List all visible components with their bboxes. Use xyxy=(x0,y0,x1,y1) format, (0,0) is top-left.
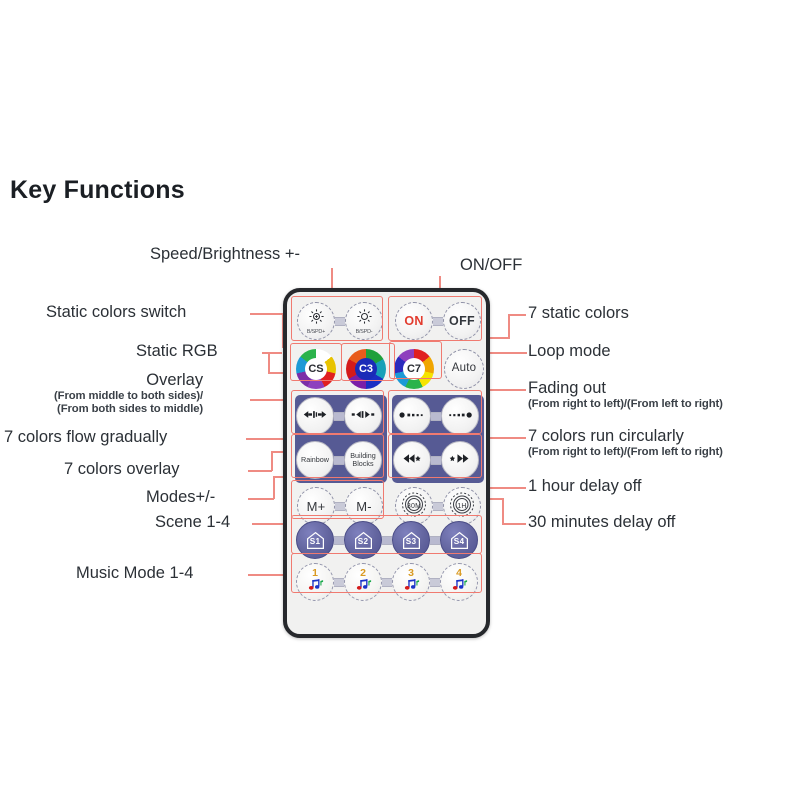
run-left-to-right-icon xyxy=(449,453,471,467)
key-color-c7[interactable]: C7 xyxy=(394,349,434,389)
key-caption: B/SPD+ xyxy=(307,329,325,335)
sun-plus-icon xyxy=(308,308,325,328)
callout-fading-out: Fading out (From right to left)/(From le… xyxy=(528,380,723,411)
key-link xyxy=(334,536,344,545)
key-link xyxy=(431,412,441,421)
connector-line xyxy=(508,314,510,338)
key-run-right-to-left[interactable] xyxy=(393,441,431,479)
callout-fading-out-title: Fading out xyxy=(528,379,606,397)
key-mode-minus[interactable]: M- xyxy=(345,487,383,525)
music-note-icon xyxy=(306,579,324,596)
connector-line xyxy=(508,314,526,316)
remote-control: B/SPD+ B/SPD- ON xyxy=(283,288,490,638)
key-link xyxy=(335,502,345,511)
music-note-icon xyxy=(450,579,468,596)
key-music-1[interactable]: 1 xyxy=(296,563,334,601)
callout-overlay-sub1: (From middle to both sides)/ xyxy=(54,390,203,403)
key-scene-3-label: S3 xyxy=(401,537,422,546)
key-music-3-label: 3 xyxy=(408,568,414,579)
key-overlay-out[interactable] xyxy=(296,397,334,435)
key-fade-right-to-left[interactable] xyxy=(393,397,431,435)
callout-30-minutes-delay-off: 30 minutes delay off xyxy=(528,514,675,532)
callout-overlay-title: Overlay xyxy=(146,371,203,389)
key-power-off[interactable]: OFF xyxy=(443,302,481,340)
key-rainbow-label: Rainbow xyxy=(301,456,329,464)
key-music-4[interactable]: 4 xyxy=(440,563,478,601)
infographic-root: Key Functions Speed/Brightness +- ON/OFF… xyxy=(0,0,800,800)
power-on-label: ON xyxy=(404,314,423,328)
key-music-2-label: 2 xyxy=(360,568,366,579)
key-music-3[interactable]: 3 xyxy=(392,563,430,601)
callout-colors-overlay: 7 colors overlay xyxy=(64,461,180,479)
key-timer-1h-label: 1H xyxy=(457,503,466,510)
key-run-left-to-right[interactable] xyxy=(441,441,479,479)
key-color-cs[interactable]: CS xyxy=(296,349,336,389)
overlay-out-icon xyxy=(302,410,328,422)
key-scene-2[interactable]: S2 xyxy=(344,521,382,559)
callout-7-static-colors: 7 static colors xyxy=(528,305,629,323)
callout-run-circularly-sub: (From right to left)/(From left to right… xyxy=(528,446,723,459)
connector-line xyxy=(248,470,272,472)
connector-line xyxy=(271,451,273,471)
overlay-in-icon xyxy=(350,410,376,422)
key-link xyxy=(382,578,392,587)
key-link xyxy=(334,578,344,587)
key-color-c7-label: C7 xyxy=(403,358,425,380)
run-right-to-left-icon xyxy=(401,453,423,467)
callout-static-rgb: Static RGB xyxy=(136,343,218,361)
key-mode-plus[interactable]: M+ xyxy=(297,487,335,525)
connector-line xyxy=(268,352,270,373)
key-link xyxy=(433,317,443,326)
key-color-c3[interactable]: C3 xyxy=(346,349,386,389)
key-link xyxy=(334,456,344,465)
callout-fading-out-sub: (From right to left)/(From left to right… xyxy=(528,398,723,411)
callout-overlay-sub2: (From both sides to middle) xyxy=(54,403,203,416)
key-link xyxy=(382,536,392,545)
key-power-on[interactable]: ON xyxy=(395,302,433,340)
key-auto[interactable]: Auto xyxy=(444,349,484,389)
callout-modes-plus-minus: Modes+/- xyxy=(146,489,215,507)
callout-scene-1-4: Scene 1-4 xyxy=(155,514,230,532)
key-link xyxy=(431,456,441,465)
callout-speed-brightness: Speed/Brightness +- xyxy=(150,246,300,264)
key-scene-4[interactable]: S4 xyxy=(440,521,478,559)
fade-right-to-left-icon xyxy=(399,411,425,422)
connector-line xyxy=(273,476,275,499)
key-color-cs-label: CS xyxy=(305,358,327,380)
power-off-label: OFF xyxy=(449,314,475,328)
callout-static-colors-switch: Static colors switch xyxy=(46,304,186,322)
home-icon: S3 xyxy=(401,530,422,551)
key-scene-1-label: S1 xyxy=(305,537,326,546)
callout-music-mode-1-4: Music Mode 1-4 xyxy=(76,565,193,583)
key-scene-3[interactable]: S3 xyxy=(392,521,430,559)
music-note-icon xyxy=(402,579,420,596)
key-link xyxy=(335,317,345,326)
key-mode-plus-label: M+ xyxy=(307,500,326,513)
key-link xyxy=(433,502,443,511)
connector-line xyxy=(248,498,274,500)
connector-line xyxy=(484,487,526,489)
key-timer-30m-label: 30M xyxy=(407,503,421,510)
key-building-blocks[interactable]: Building Blocks xyxy=(344,441,382,479)
key-brightness-speed-up[interactable]: B/SPD+ xyxy=(297,302,335,340)
key-music-2[interactable]: 2 xyxy=(344,563,382,601)
key-music-1-label: 1 xyxy=(312,568,318,579)
key-timer-1h[interactable]: 1H xyxy=(443,487,481,525)
key-color-c3-label: C3 xyxy=(355,358,377,380)
connector-line xyxy=(502,498,504,524)
callout-colors-run-circularly: 7 colors run circularly (From right to l… xyxy=(528,428,723,459)
key-rainbow[interactable]: Rainbow xyxy=(296,441,334,479)
music-note-icon xyxy=(354,579,372,596)
connector-line xyxy=(490,437,526,439)
key-music-4-label: 4 xyxy=(456,568,462,579)
callout-1-hour-delay-off: 1 hour delay off xyxy=(528,478,641,496)
callout-on-off: ON/OFF xyxy=(460,257,522,275)
key-caption: B/SPD- xyxy=(356,329,373,335)
home-icon: S4 xyxy=(449,530,470,551)
home-icon: S2 xyxy=(353,530,374,551)
sun-minus-icon xyxy=(356,308,373,328)
page-title: Key Functions xyxy=(10,176,185,205)
key-auto-label: Auto xyxy=(452,363,476,375)
key-link xyxy=(430,578,440,587)
key-brightness-speed-down[interactable]: B/SPD- xyxy=(345,302,383,340)
key-scene-1[interactable]: S1 xyxy=(296,521,334,559)
key-overlay-in[interactable] xyxy=(344,397,382,435)
callout-run-circularly-title: 7 colors run circularly xyxy=(528,427,684,445)
fade-left-to-right-icon xyxy=(447,411,473,422)
callout-colors-flow-gradually: 7 colors flow gradually xyxy=(4,429,167,447)
key-link xyxy=(334,412,344,421)
key-link xyxy=(430,536,440,545)
connector-line xyxy=(262,352,282,354)
connector-line xyxy=(250,313,284,315)
connector-line xyxy=(502,523,526,525)
home-icon: S1 xyxy=(305,530,326,551)
connector-line xyxy=(490,389,526,391)
connector-line xyxy=(489,352,527,354)
key-building-blocks-label2: Blocks xyxy=(352,460,373,468)
key-mode-minus-label: M- xyxy=(356,500,372,513)
key-scene-2-label: S2 xyxy=(353,537,374,546)
callout-loop-mode: Loop mode xyxy=(528,343,611,361)
key-fade-left-to-right[interactable] xyxy=(441,397,479,435)
key-timer-30m[interactable]: 30M xyxy=(395,487,433,525)
callout-overlay: Overlay (From middle to both sides)/ (Fr… xyxy=(54,372,203,416)
key-scene-4-label: S4 xyxy=(449,537,470,546)
